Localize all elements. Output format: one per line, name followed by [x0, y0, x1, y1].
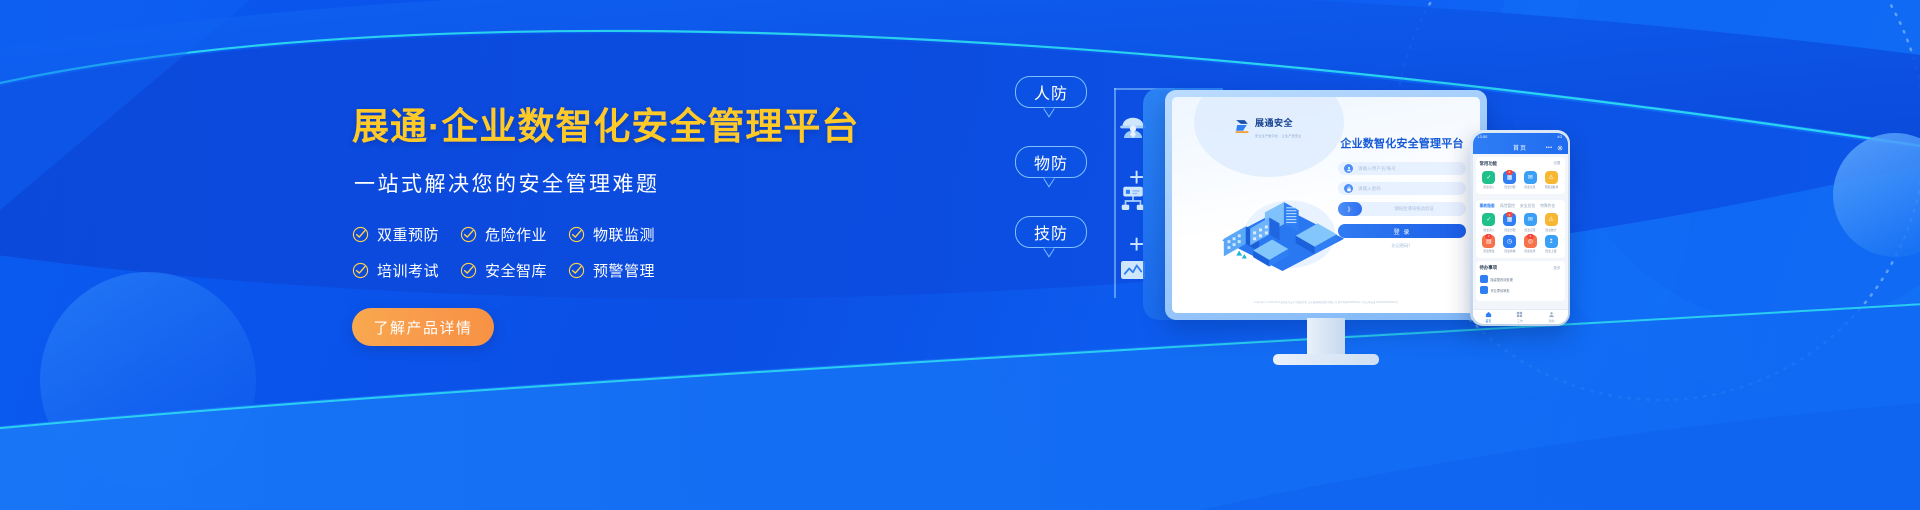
feature-item: 危险作业 — [460, 224, 568, 245]
phone-screen: 13:50 4G 首页 ••• 常用功能 设置 — [1473, 133, 1568, 324]
quick-panel-more[interactable]: 设置 — [1553, 161, 1560, 166]
logo-mark-icon — [1234, 118, 1251, 134]
learn-more-button[interactable]: 了解产品详情 — [352, 308, 494, 346]
module-tab[interactable]: 安全总览 — [1520, 204, 1535, 209]
username-placeholder: 请输入用户名/账号 — [1358, 166, 1396, 172]
feature-label: 双重预防 — [377, 224, 439, 245]
module-item[interactable]: 6 ▦ 隐患分配 — [1500, 213, 1519, 232]
home-icon — [1485, 311, 1492, 318]
module-item[interactable]: ✉ 隐患记录 — [1521, 213, 1540, 232]
todo-text: 作业票待审批 — [1491, 288, 1510, 293]
tag-label: 技防 — [1034, 220, 1068, 244]
todo-row[interactable]: 作业票待审批 — [1480, 286, 1561, 294]
tab-label: 工作 — [1517, 319, 1523, 323]
page-title: 展通·企业数智化安全管理平台 — [352, 104, 822, 150]
user-icon — [1344, 164, 1353, 173]
phone-header-title: 首页 — [1513, 143, 1527, 152]
phone-header: 首页 ••• — [1473, 142, 1568, 154]
app-icon: ✓ — [1482, 213, 1495, 226]
app-icon: ✉ — [1524, 213, 1537, 226]
badge-count: 2 — [1485, 234, 1492, 239]
user-icon — [1548, 311, 1555, 318]
module-item[interactable]: ↥ 隐患上报 — [1542, 235, 1561, 254]
check-circle-icon — [568, 262, 585, 279]
device-composition: 人防 + 物防 + — [1015, 62, 1775, 462]
tag-label: 物防 — [1034, 150, 1068, 174]
todo-panel-title: 待办事项 — [1480, 265, 1498, 271]
feature-list: 双重预防 危险作业 物联监测 — [352, 224, 822, 281]
feature-label: 预警管理 — [593, 260, 655, 281]
tag-wufang[interactable]: 物防 — [1015, 146, 1087, 178]
todo-avatar — [1480, 275, 1488, 283]
check-circle-icon — [352, 262, 369, 279]
login-button[interactable]: 登 录 — [1338, 224, 1466, 238]
feature-item: 物联监测 — [568, 224, 676, 245]
badge-count: 3 — [1527, 234, 1534, 239]
logo-text: 展通安全 — [1255, 118, 1293, 128]
tab-label: 我的 — [1549, 319, 1555, 323]
quick-item-grid: ✓ 隐患录入 6 ▦ 隐患分配 ✉ 隐患记录 ⚠ — [1480, 171, 1561, 190]
status-signal: 4G — [1557, 135, 1562, 139]
app-icon: ↥ — [1545, 235, 1558, 248]
module-item[interactable]: ✓ 隐患录入 — [1480, 213, 1499, 232]
todo-row[interactable]: 隐患整改待处理 — [1480, 275, 1561, 283]
logo-tagline: 安全生产数字化 · 让生产更安全 — [1255, 133, 1302, 138]
tab-work[interactable]: 工作 — [1516, 311, 1523, 323]
tab-home[interactable]: 首页 — [1485, 311, 1492, 323]
tag-label: 人防 — [1034, 80, 1068, 104]
feature-item: 安全智库 — [460, 260, 568, 281]
platform-logo: 展通安全 安全生产数字化 · 让生产更安全 — [1234, 113, 1304, 138]
login-card: 企业数智化安全管理平台 请输入用户名/账号 — [1338, 135, 1466, 249]
quick-item-label: 隐患记录 — [1525, 185, 1536, 189]
module-item[interactable]: ⚠ 隐患统计 — [1542, 213, 1561, 232]
copyright-text: Copyright © 2019-2024 展通安全云平台版权所有 山东展通科技… — [1187, 300, 1464, 304]
module-item-label: 隐患分配 — [1504, 228, 1515, 232]
phone-quick-panel: 常用功能 设置 ✓ 隐患录入 6 ▦ 隐患分配 — [1476, 157, 1565, 195]
module-tab[interactable]: 事故隐患 — [1480, 204, 1495, 209]
feature-item: 双重预防 — [352, 224, 460, 245]
module-item-label: 隐患整改 — [1483, 249, 1494, 253]
module-item[interactable]: ◷ 隐患验收 — [1500, 235, 1519, 254]
grid-icon — [1516, 311, 1523, 318]
tab-profile[interactable]: 我的 — [1548, 311, 1555, 323]
check-circle-icon — [352, 226, 369, 243]
password-placeholder: 请输入密码 — [1358, 186, 1381, 192]
quick-item-label: 隐患录入 — [1483, 185, 1494, 189]
slider-text: 请按住滑块拖动验证 — [1362, 206, 1466, 212]
todo-text: 隐患整改待处理 — [1491, 277, 1513, 282]
app-icon: ⚠ — [1545, 213, 1558, 226]
badge-count: 6 — [1506, 170, 1513, 175]
slider-knob[interactable]: 》 — [1338, 202, 1362, 216]
badge-count: 6 — [1506, 212, 1513, 217]
feature-label: 培训考试 — [377, 260, 439, 281]
quick-item[interactable]: ✓ 隐患录入 — [1480, 171, 1499, 190]
phone-tab-bar: 首页 工作 — [1473, 309, 1568, 324]
app-icon: ◷ — [1503, 235, 1516, 248]
module-tab[interactable]: 特殊作业 — [1540, 204, 1555, 209]
todo-panel-header: 待办事项 更多 — [1480, 265, 1561, 271]
login-heading: 企业数智化安全管理平台 — [1338, 135, 1466, 151]
more-dots-icon[interactable]: ••• — [1546, 145, 1553, 151]
page-subtitle: 一站式解决您的安全管理难题 — [354, 168, 822, 198]
feature-label: 物联监测 — [593, 224, 655, 245]
module-item-label: 隐患复查 — [1525, 249, 1536, 253]
mobile-phone-mockup: 13:50 4G 首页 ••• 常用功能 设置 — [1470, 130, 1570, 326]
hero-copy: 展通·企业数智化安全管理平台 一站式解决您的安全管理难题 双重预防 危险作业 — [352, 104, 822, 346]
username-field[interactable]: 请输入用户名/账号 — [1338, 162, 1466, 175]
captcha-slider[interactable]: 》 请按住滑块拖动验证 — [1338, 202, 1466, 216]
module-item[interactable]: 3 ◎ 隐患复查 — [1521, 235, 1540, 254]
quick-panel-title: 常用功能 — [1480, 161, 1498, 167]
quick-panel-header: 常用功能 设置 — [1480, 161, 1561, 167]
check-circle-icon — [460, 226, 477, 243]
tag-renfang[interactable]: 人防 — [1015, 76, 1087, 108]
gear-icon[interactable] — [1557, 145, 1563, 151]
module-item-label: 隐患记录 — [1525, 228, 1536, 232]
module-item-label: 隐患验收 — [1504, 249, 1515, 253]
app-icon: ✉ — [1524, 171, 1537, 184]
check-circle-icon — [460, 262, 477, 279]
phone-todo-panel: 待办事项 更多 隐患整改待处理 作业票待审批 — [1476, 261, 1565, 301]
quick-item[interactable]: ✉ 隐患记录 — [1521, 171, 1540, 190]
todo-panel-more[interactable]: 更多 — [1553, 266, 1560, 271]
monitor-base — [1273, 354, 1379, 365]
phone-module-panel: 事故隐患 风险管控 安全总览 特殊作业 ✓ 隐患录入 6 ▦ 隐患 — [1476, 200, 1565, 258]
module-item-label: 隐患上报 — [1546, 249, 1557, 253]
password-field[interactable]: 请输入密码 — [1338, 182, 1466, 195]
lock-icon — [1344, 184, 1353, 193]
todo-avatar — [1480, 286, 1488, 294]
module-item[interactable]: 2 ▤ 隐患整改 — [1480, 235, 1499, 254]
quick-item-label: 预警进账单 — [1544, 185, 1558, 189]
monitor-neck — [1307, 318, 1345, 356]
forgot-password-link[interactable]: 忘记密码？ — [1338, 243, 1466, 249]
phone-status-bar: 13:50 4G — [1473, 133, 1568, 142]
monitor-bezel: 展通安全 安全生产数字化 · 让生产更安全 — [1165, 90, 1487, 320]
module-item-grid: ✓ 隐患录入 6 ▦ 隐患分配 ✉ 隐患记录 ⚠ — [1480, 213, 1561, 253]
module-tab[interactable]: 风险管控 — [1500, 204, 1515, 209]
quick-item-label: 隐患分配 — [1504, 185, 1515, 189]
feature-item: 预警管理 — [568, 260, 676, 281]
module-item-label: 隐患统计 — [1546, 228, 1557, 232]
feature-label: 危险作业 — [485, 224, 547, 245]
feature-label: 安全智库 — [485, 260, 547, 281]
hero-banner: 展通·企业数智化安全管理平台 一站式解决您的安全管理难题 双重预防 危险作业 — [0, 0, 1920, 510]
status-time: 13:50 — [1478, 135, 1488, 139]
desktop-monitor: 展通安全 安全生产数字化 · 让生产更安全 — [1165, 90, 1487, 320]
module-item-label: 隐患录入 — [1483, 228, 1494, 232]
feature-item: 培训考试 — [352, 260, 460, 281]
quick-item[interactable]: ⚠ 预警进账单 — [1542, 171, 1561, 190]
tag-jifang[interactable]: 技防 — [1015, 216, 1087, 248]
check-circle-icon — [568, 226, 585, 243]
monitor-screen: 展通安全 安全生产数字化 · 让生产更安全 — [1172, 97, 1480, 313]
app-icon: ⚠ — [1545, 171, 1558, 184]
module-tabs: 事故隐患 风险管控 安全总览 特殊作业 — [1480, 204, 1561, 209]
tab-label: 首页 — [1485, 319, 1491, 323]
quick-item[interactable]: 6 ▦ 隐患分配 — [1500, 171, 1519, 190]
isometric-factory-illustration — [1206, 183, 1356, 271]
app-icon: ✓ — [1482, 171, 1495, 184]
